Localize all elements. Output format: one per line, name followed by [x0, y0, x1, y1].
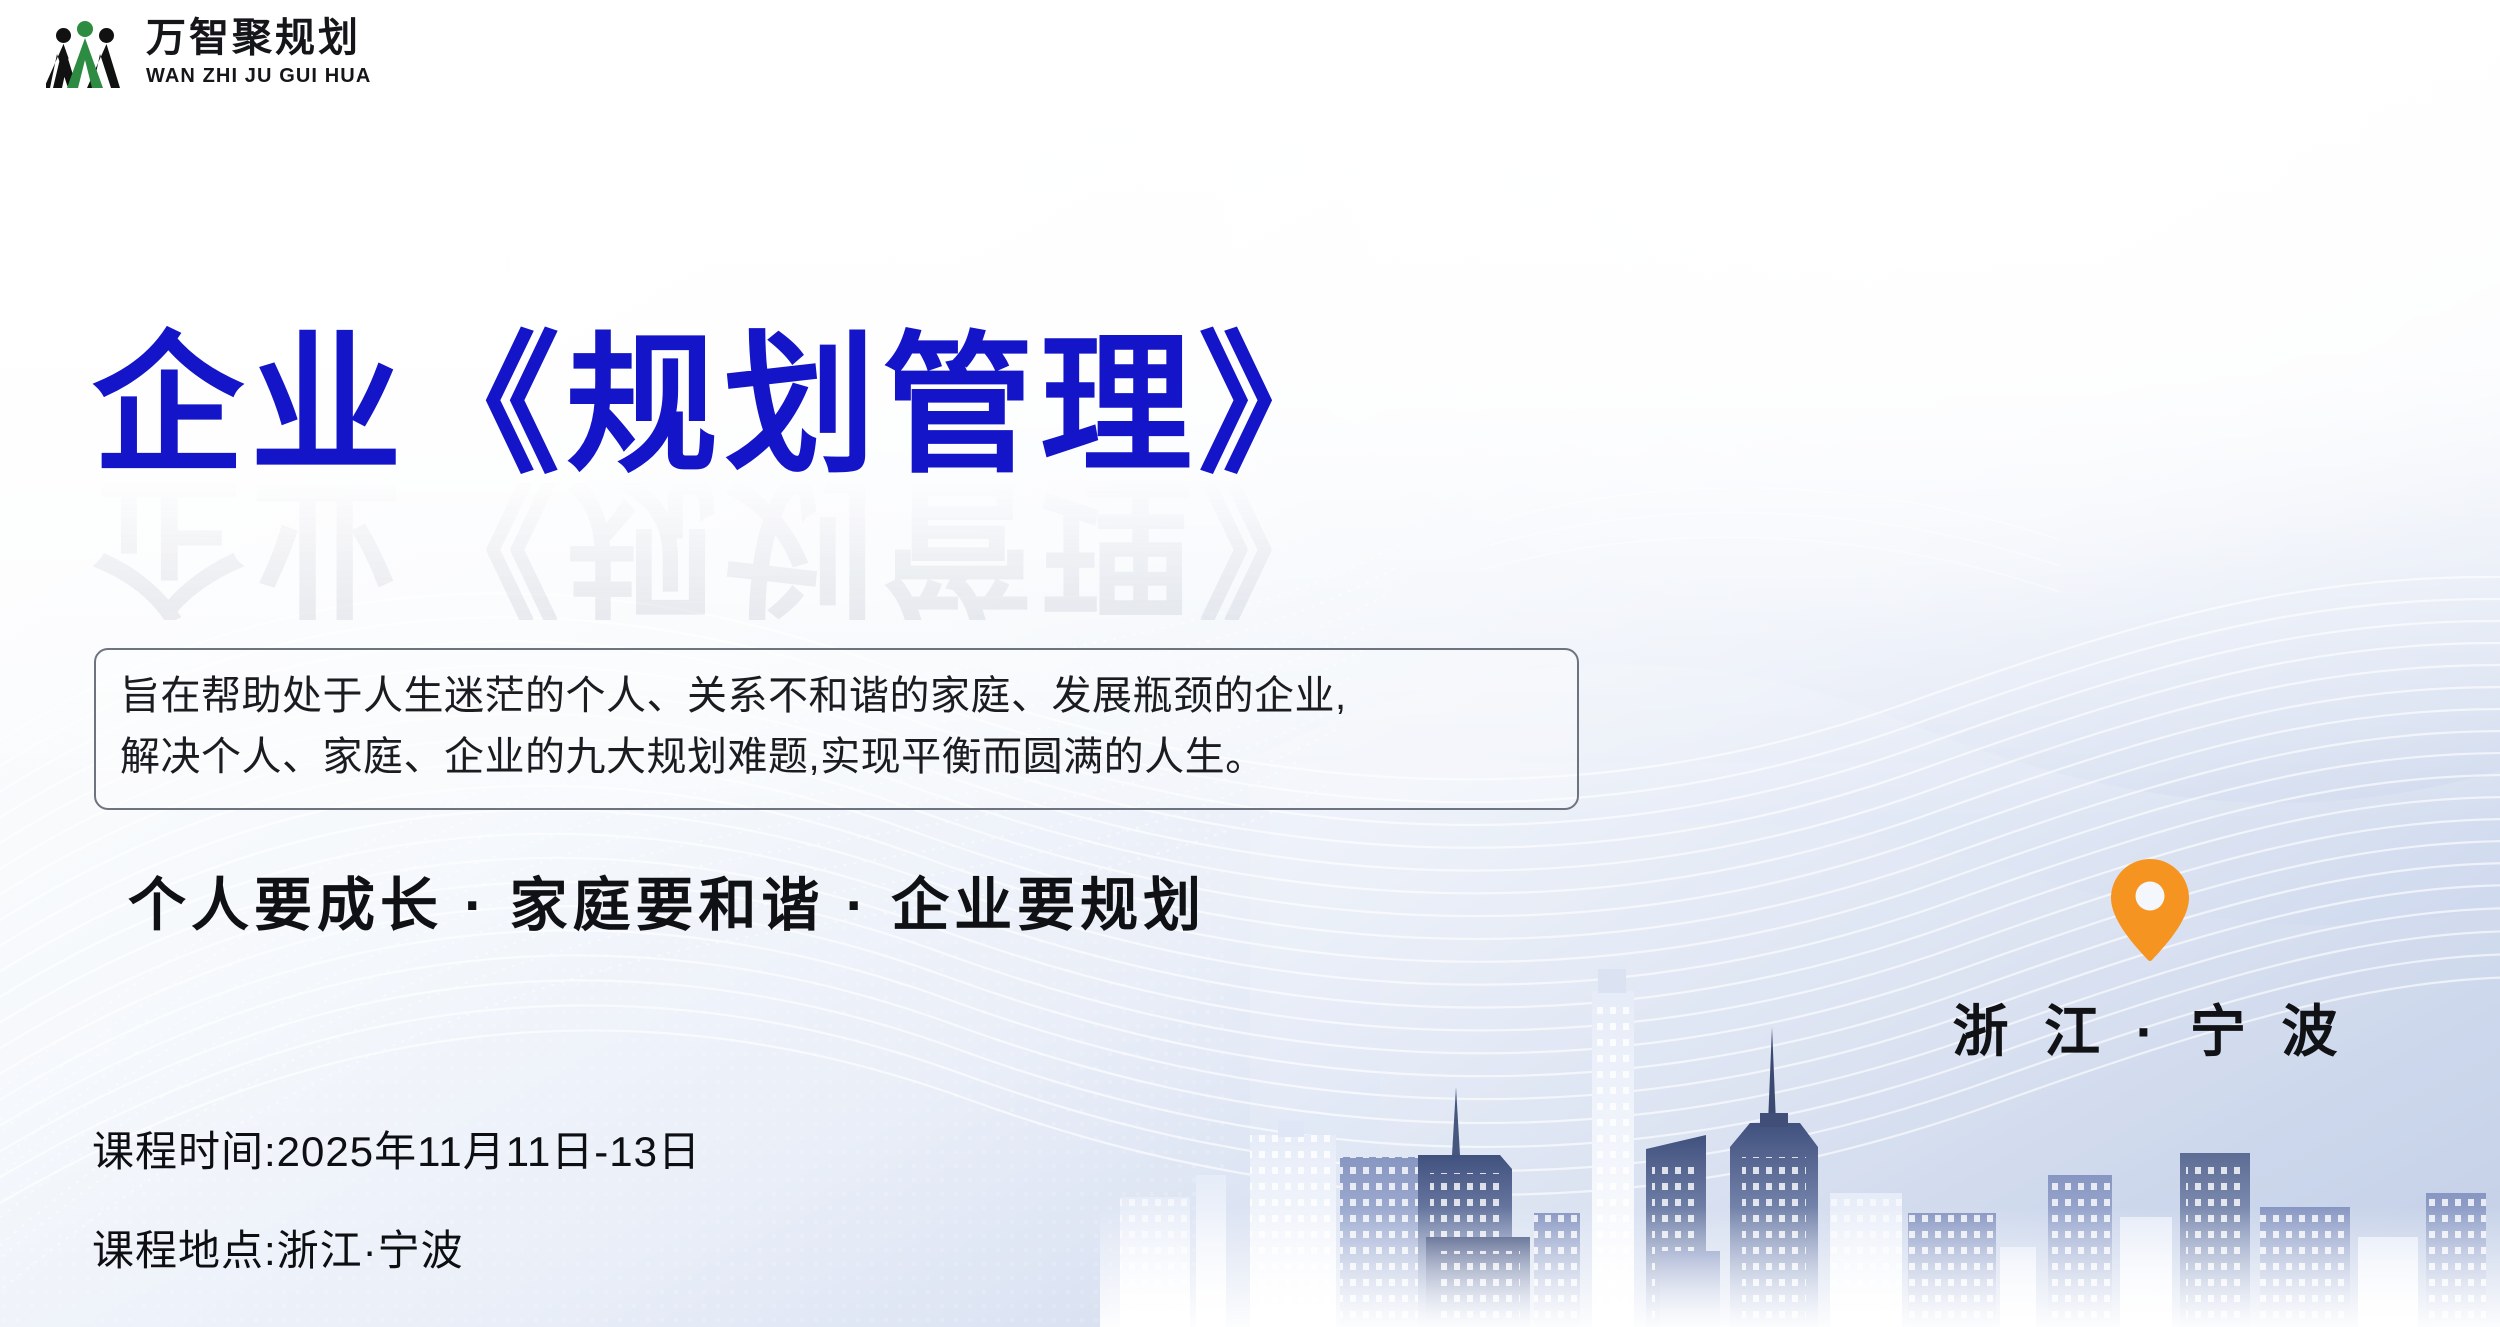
hero-title-block: 企业《规划管理》 企业《规划管理》: [92, 330, 1356, 620]
map-pin-icon: [2107, 855, 2193, 965]
brand-name-en: WAN ZHI JU GUI HUA: [146, 66, 371, 86]
course-info-block: 课程时间:2025年11月11日-13日 课程地点:浙江·宁波: [92, 1118, 701, 1278]
hero-tagline: 个人要成长 · 家庭要和谐 · 企业要规划: [128, 858, 1206, 942]
location-block: 浙 江 · 宁 波: [1950, 855, 2350, 1068]
three-people-logo-icon: [46, 14, 124, 90]
brand-header: 万智聚规划 WAN ZHI JU GUI HUA: [46, 14, 371, 90]
page-title-reflection: 企业《规划管理》: [92, 468, 1356, 620]
description-line-1: 旨在帮助处于人生迷茫的个人、关系不和谐的家庭、发展瓶颈的企业,: [120, 666, 1553, 727]
description-box: 旨在帮助处于人生迷茫的个人、关系不和谐的家庭、发展瓶颈的企业, 解决个人、家庭、…: [94, 648, 1579, 810]
poster-canvas: 万智聚规划 WAN ZHI JU GUI HUA 企业《规划管理》 企业《规划管…: [0, 0, 2500, 1327]
description-line-2: 解决个人、家庭、企业的九大规划难题,实现平衡而圆满的人生。: [120, 727, 1553, 788]
page-title: 企业《规划管理》: [92, 330, 1356, 482]
course-time-line: 课程时间:2025年11月11日-13日: [92, 1118, 701, 1179]
course-place-line: 课程地点:浙江·宁波: [92, 1217, 701, 1278]
brand-name-cn: 万智聚规划: [146, 18, 371, 58]
location-label: 浙 江 · 宁 波: [1950, 987, 2350, 1068]
